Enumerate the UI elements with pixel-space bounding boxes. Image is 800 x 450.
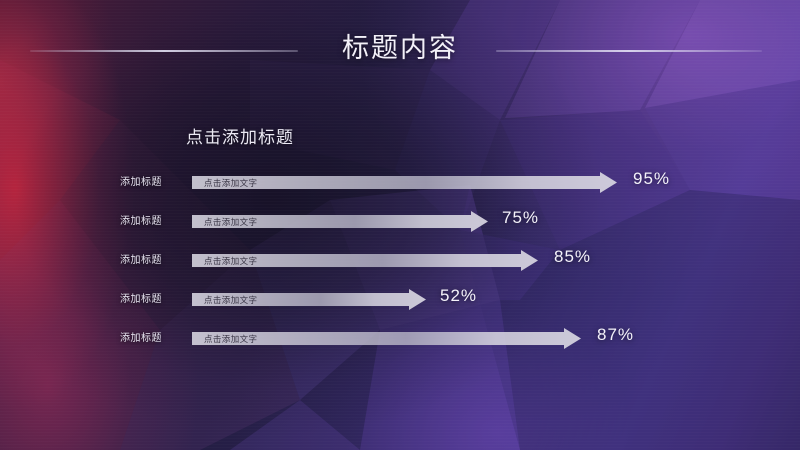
chart-row-label: 添加标题 [120,212,186,227]
chart-subtitle: 点击添加标题 [186,123,294,148]
chart-bar-text: 点击添加文字 [204,216,257,228]
chart-row: 添加标题点击添加文字87% [0,321,800,360]
chart-row-value: 75% [502,208,539,228]
chart-row-label: 添加标题 [120,251,186,266]
chart-row-value: 95% [633,169,670,189]
page-title: 标题内容 [0,26,800,65]
chart-row: 添加标题点击添加文字75% [0,204,800,243]
chart-row-label: 添加标题 [120,329,186,344]
chart-row-label: 添加标题 [120,290,186,305]
chart-bar-text: 点击添加文字 [204,177,257,189]
chart-row: 添加标题点击添加文字52% [0,282,800,321]
chart-bar-text: 点击添加文字 [204,294,257,306]
chart-row: 添加标题点击添加文字85% [0,243,800,282]
chart-row-value: 85% [554,247,591,267]
chart-bar-text: 点击添加文字 [204,333,257,345]
chart-bar-text: 点击添加文字 [204,255,257,267]
slide-header: 标题内容 [0,12,800,64]
chart-row-value: 52% [440,286,477,306]
chart-row-label: 添加标题 [120,173,186,188]
horizontal-bar-chart: 添加标题点击添加文字95%添加标题点击添加文字75%添加标题点击添加文字85%添… [0,165,800,360]
presentation-slide: 标题内容 点击添加标题 添加标题点击添加文字95%添加标题点击添加文字75%添加… [0,0,800,450]
chart-row-value: 87% [597,325,634,345]
chart-row: 添加标题点击添加文字95% [0,165,800,204]
